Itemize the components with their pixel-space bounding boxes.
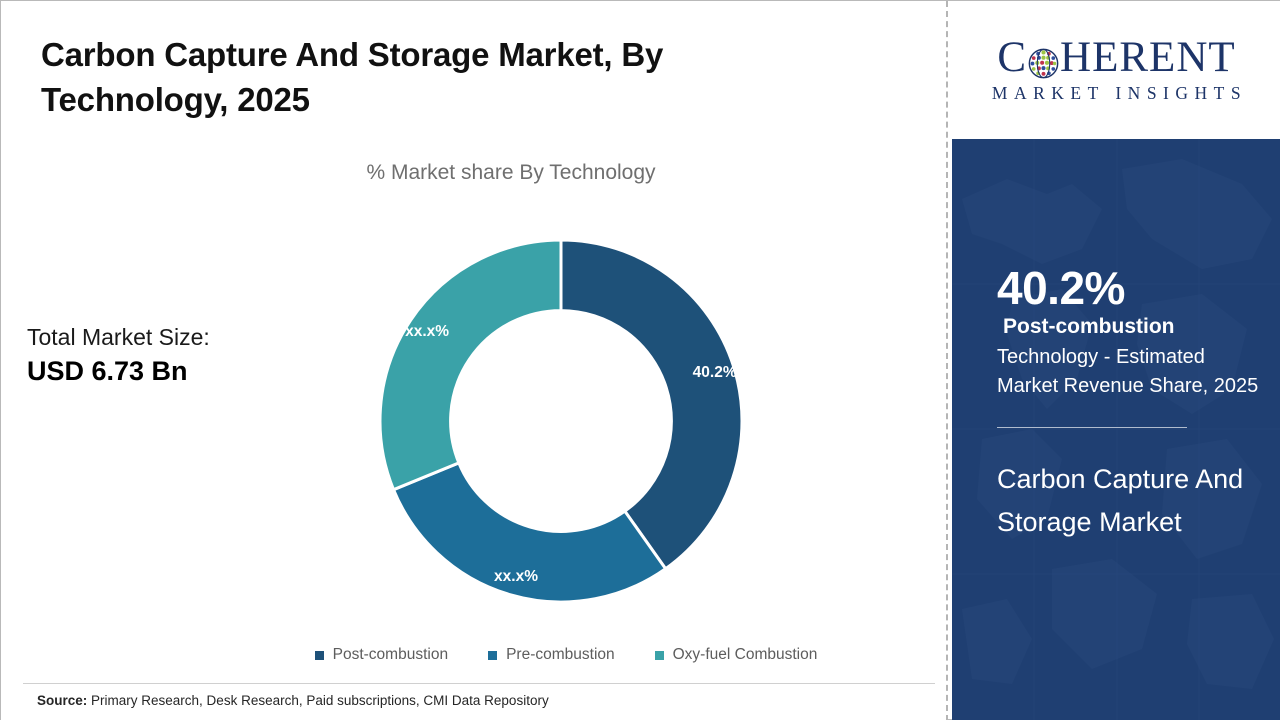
highlight-panel: 40.2% Post-combustion Technology - Estim… [952,139,1280,720]
legend-label: Pre-combustion [506,646,615,664]
stat-description: Technology - Estimated Market Revenue Sh… [997,343,1259,401]
brand-tagline: MARKET INSIGHTS [986,83,1247,104]
legend-label: Post-combustion [333,646,448,664]
legend-label: Oxy-fuel Combustion [673,646,818,664]
brand-logo: C [952,1,1280,139]
total-market-size-value: USD 6.73 Bn [27,354,327,389]
legend-item[interactable]: Post-combustion [315,646,448,664]
brand-letters-herent: HERENT [1060,36,1236,79]
donut-slice [561,240,742,569]
legend-swatch-icon [488,651,497,660]
page-title: Carbon Capture And Storage Market, By Te… [41,33,801,123]
highlight-panel-content: 40.2% Post-combustion Technology - Estim… [997,264,1259,545]
donut-slice [380,240,561,490]
footer-divider [23,683,935,684]
source-text: Primary Research, Desk Research, Paid su… [91,693,549,708]
main-content-area: Carbon Capture And Storage Market, By Te… [1,1,946,720]
donut-chart-svg: 40.2%xx.x%xx.x% [376,236,746,606]
globe-icon [1028,44,1059,75]
donut-slice-label: xx.x% [494,568,538,585]
donut-chart: 40.2%xx.x%xx.x% [376,236,746,606]
legend-item[interactable]: Pre-combustion [488,646,615,664]
panel-market-name: Carbon Capture And Storage Market [997,458,1259,545]
total-market-size-label: Total Market Size: [27,323,327,352]
brand-letter-c: C [997,36,1027,79]
legend-swatch-icon [655,651,664,660]
donut-slices [380,240,742,602]
legend-swatch-icon [315,651,324,660]
total-market-size-block: Total Market Size: USD 6.73 Bn [27,323,327,390]
vertical-dashed-divider [946,1,948,720]
brand-wordmark: C [997,36,1235,79]
stat-segment-name: Post-combustion [997,313,1259,340]
stat-value: 40.2% [997,264,1259,312]
chart-legend: Post-combustionPre-combustionOxy-fuel Co… [256,646,876,664]
infographic-page: Carbon Capture And Storage Market, By Te… [0,0,1280,720]
panel-divider [997,427,1187,428]
right-panel: C [952,1,1280,720]
legend-item[interactable]: Oxy-fuel Combustion [655,646,818,664]
chart-subtitle: % Market share By Technology [161,161,861,185]
source-label: Source: [37,693,87,708]
donut-slice-label: xx.x% [405,323,449,340]
donut-slice-label: 40.2% [693,364,737,381]
source-line: Source: Primary Research, Desk Research,… [37,693,549,708]
